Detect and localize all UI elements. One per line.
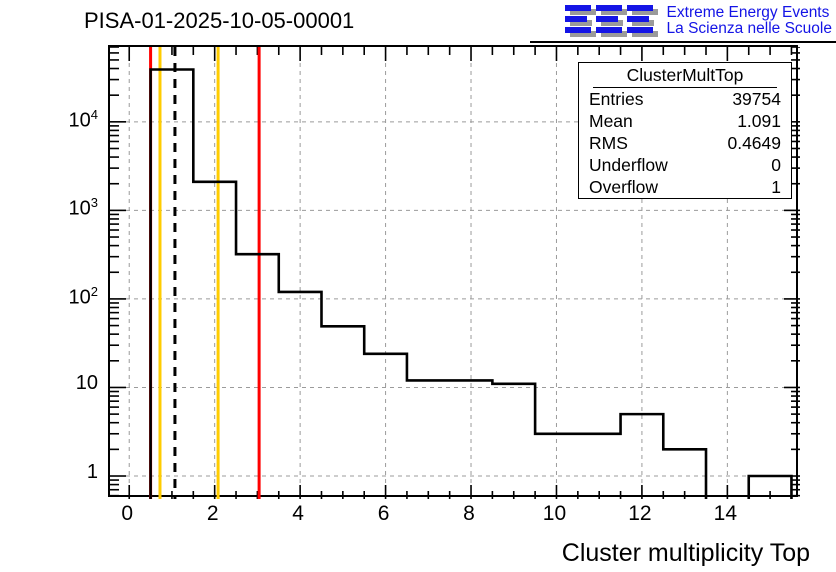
stats-row-value: 39754 <box>732 88 781 110</box>
y-tick-label: 103 <box>0 195 98 221</box>
stats-row: Entries39754 <box>579 88 791 110</box>
y-tick-label: 102 <box>0 284 98 310</box>
stats-title: ClusterMultTop <box>593 63 777 88</box>
stats-row-label: RMS <box>589 132 628 154</box>
eee-logo-text: Extreme Energy Events La Scienza nelle S… <box>667 5 832 37</box>
stats-row-label: Overflow <box>589 176 658 198</box>
histogram-canvas: PISA-01-2025-10-05-00001 <box>0 0 836 572</box>
marker-lines <box>151 47 260 499</box>
page-title: PISA-01-2025-10-05-00001 <box>84 8 354 34</box>
stats-row: RMS0.4649 <box>579 132 791 154</box>
header-divider <box>530 41 836 43</box>
stats-row-label: Underflow <box>589 154 668 176</box>
stats-row-value: 1.091 <box>737 110 781 132</box>
y-tick-label: 10 <box>0 372 98 395</box>
stats-row-label: Mean <box>589 110 633 132</box>
stats-row: Overflow1 <box>579 176 791 198</box>
y-tick-label: 1 <box>0 461 98 484</box>
x-tick-label: 10 <box>543 502 566 526</box>
eee-mark-icon <box>565 4 661 38</box>
eee-logo-line2: La Scienza nelle Scuole <box>667 21 832 37</box>
stats-row: Underflow0 <box>579 154 791 176</box>
x-tick-label: 6 <box>378 502 390 526</box>
y-tick-label: 104 <box>0 107 98 133</box>
stats-row-value: 1 <box>771 176 781 198</box>
x-tick-label: 2 <box>207 502 219 526</box>
statistics-box[interactable]: ClusterMultTop Entries39754Mean1.091RMS0… <box>578 62 792 199</box>
stats-row: Mean1.091 <box>579 110 791 132</box>
x-tick-label: 0 <box>121 502 133 526</box>
stats-rows: Entries39754Mean1.091RMS0.4649Underflow0… <box>579 88 791 198</box>
eee-logo: Extreme Energy Events La Scienza nelle S… <box>565 2 832 40</box>
x-axis-title: Cluster multiplicity Top <box>562 539 810 568</box>
x-tick-label: 14 <box>714 502 737 526</box>
x-tick-label: 4 <box>292 502 304 526</box>
stats-row-value: 0 <box>771 154 781 176</box>
x-tick-label: 12 <box>628 502 651 526</box>
stats-row-value: 0.4649 <box>727 132 781 154</box>
eee-logo-line1: Extreme Energy Events <box>667 5 832 21</box>
stats-row-label: Entries <box>589 88 643 110</box>
x-tick-label: 8 <box>463 502 475 526</box>
